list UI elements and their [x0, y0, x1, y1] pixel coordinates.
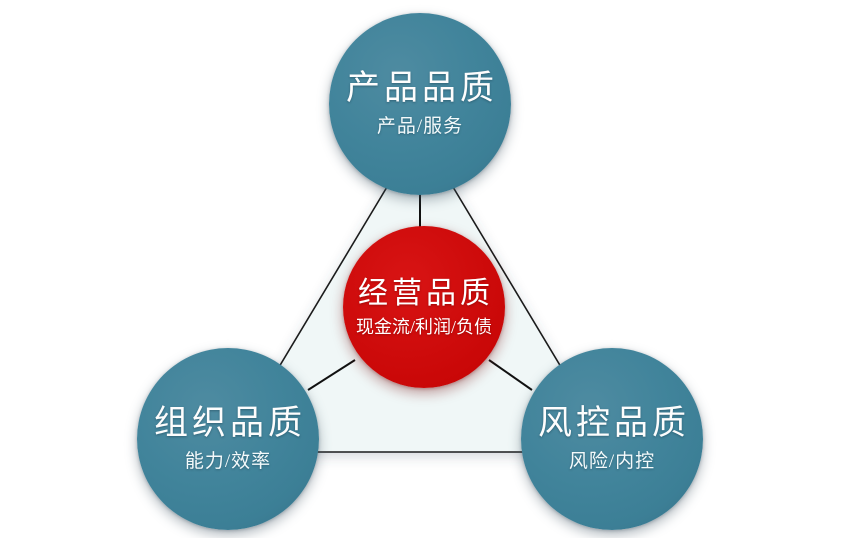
- node-operating-quality-title: 经营品质: [354, 277, 494, 310]
- node-risk-control-quality[interactable]: 风控品质 风险/内控: [521, 348, 703, 530]
- node-product-quality-subtitle: 产品/服务: [377, 117, 463, 138]
- node-risk-control-quality-subtitle: 风险/内控: [569, 452, 655, 473]
- node-product-quality-title: 产品品质: [342, 70, 498, 107]
- node-organization-quality-title: 组织品质: [150, 405, 306, 442]
- node-operating-quality-subtitle: 现金流/利润/负债: [356, 318, 492, 338]
- diagram-canvas: 产品品质 产品/服务 经营品质 现金流/利润/负债 组织品质 能力/效率 风控品…: [0, 0, 848, 538]
- node-organization-quality[interactable]: 组织品质 能力/效率: [137, 348, 319, 530]
- node-organization-quality-subtitle: 能力/效率: [185, 452, 271, 473]
- node-operating-quality[interactable]: 经营品质 现金流/利润/负债: [343, 226, 505, 388]
- node-risk-control-quality-title: 风控品质: [534, 405, 690, 442]
- node-product-quality[interactable]: 产品品质 产品/服务: [329, 13, 511, 195]
